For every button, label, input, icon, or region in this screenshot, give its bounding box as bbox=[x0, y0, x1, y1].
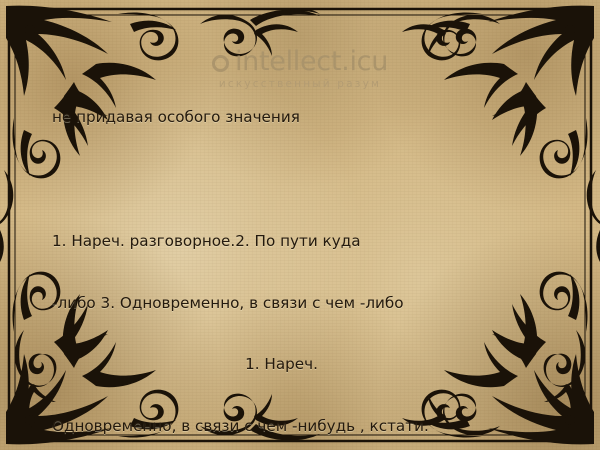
parchment-page: intellect.icu искусственный разум не при… bbox=[0, 0, 600, 450]
text-line-1: не придавая особого значения bbox=[52, 107, 552, 128]
document-text: не придавая особого значения 1. Нареч. р… bbox=[52, 66, 552, 450]
text-line-4: -либо 3. Одновременно, в связи с чем -ли… bbox=[52, 293, 552, 314]
text-line-3: 1. Нареч. разговорное.2. По пути куда bbox=[52, 231, 552, 252]
text-line-2 bbox=[52, 169, 552, 190]
text-line-5: 1. Нареч. bbox=[52, 354, 552, 375]
text-line-6: Одновременно, в связи с чем -нибудь , кс… bbox=[52, 416, 552, 437]
